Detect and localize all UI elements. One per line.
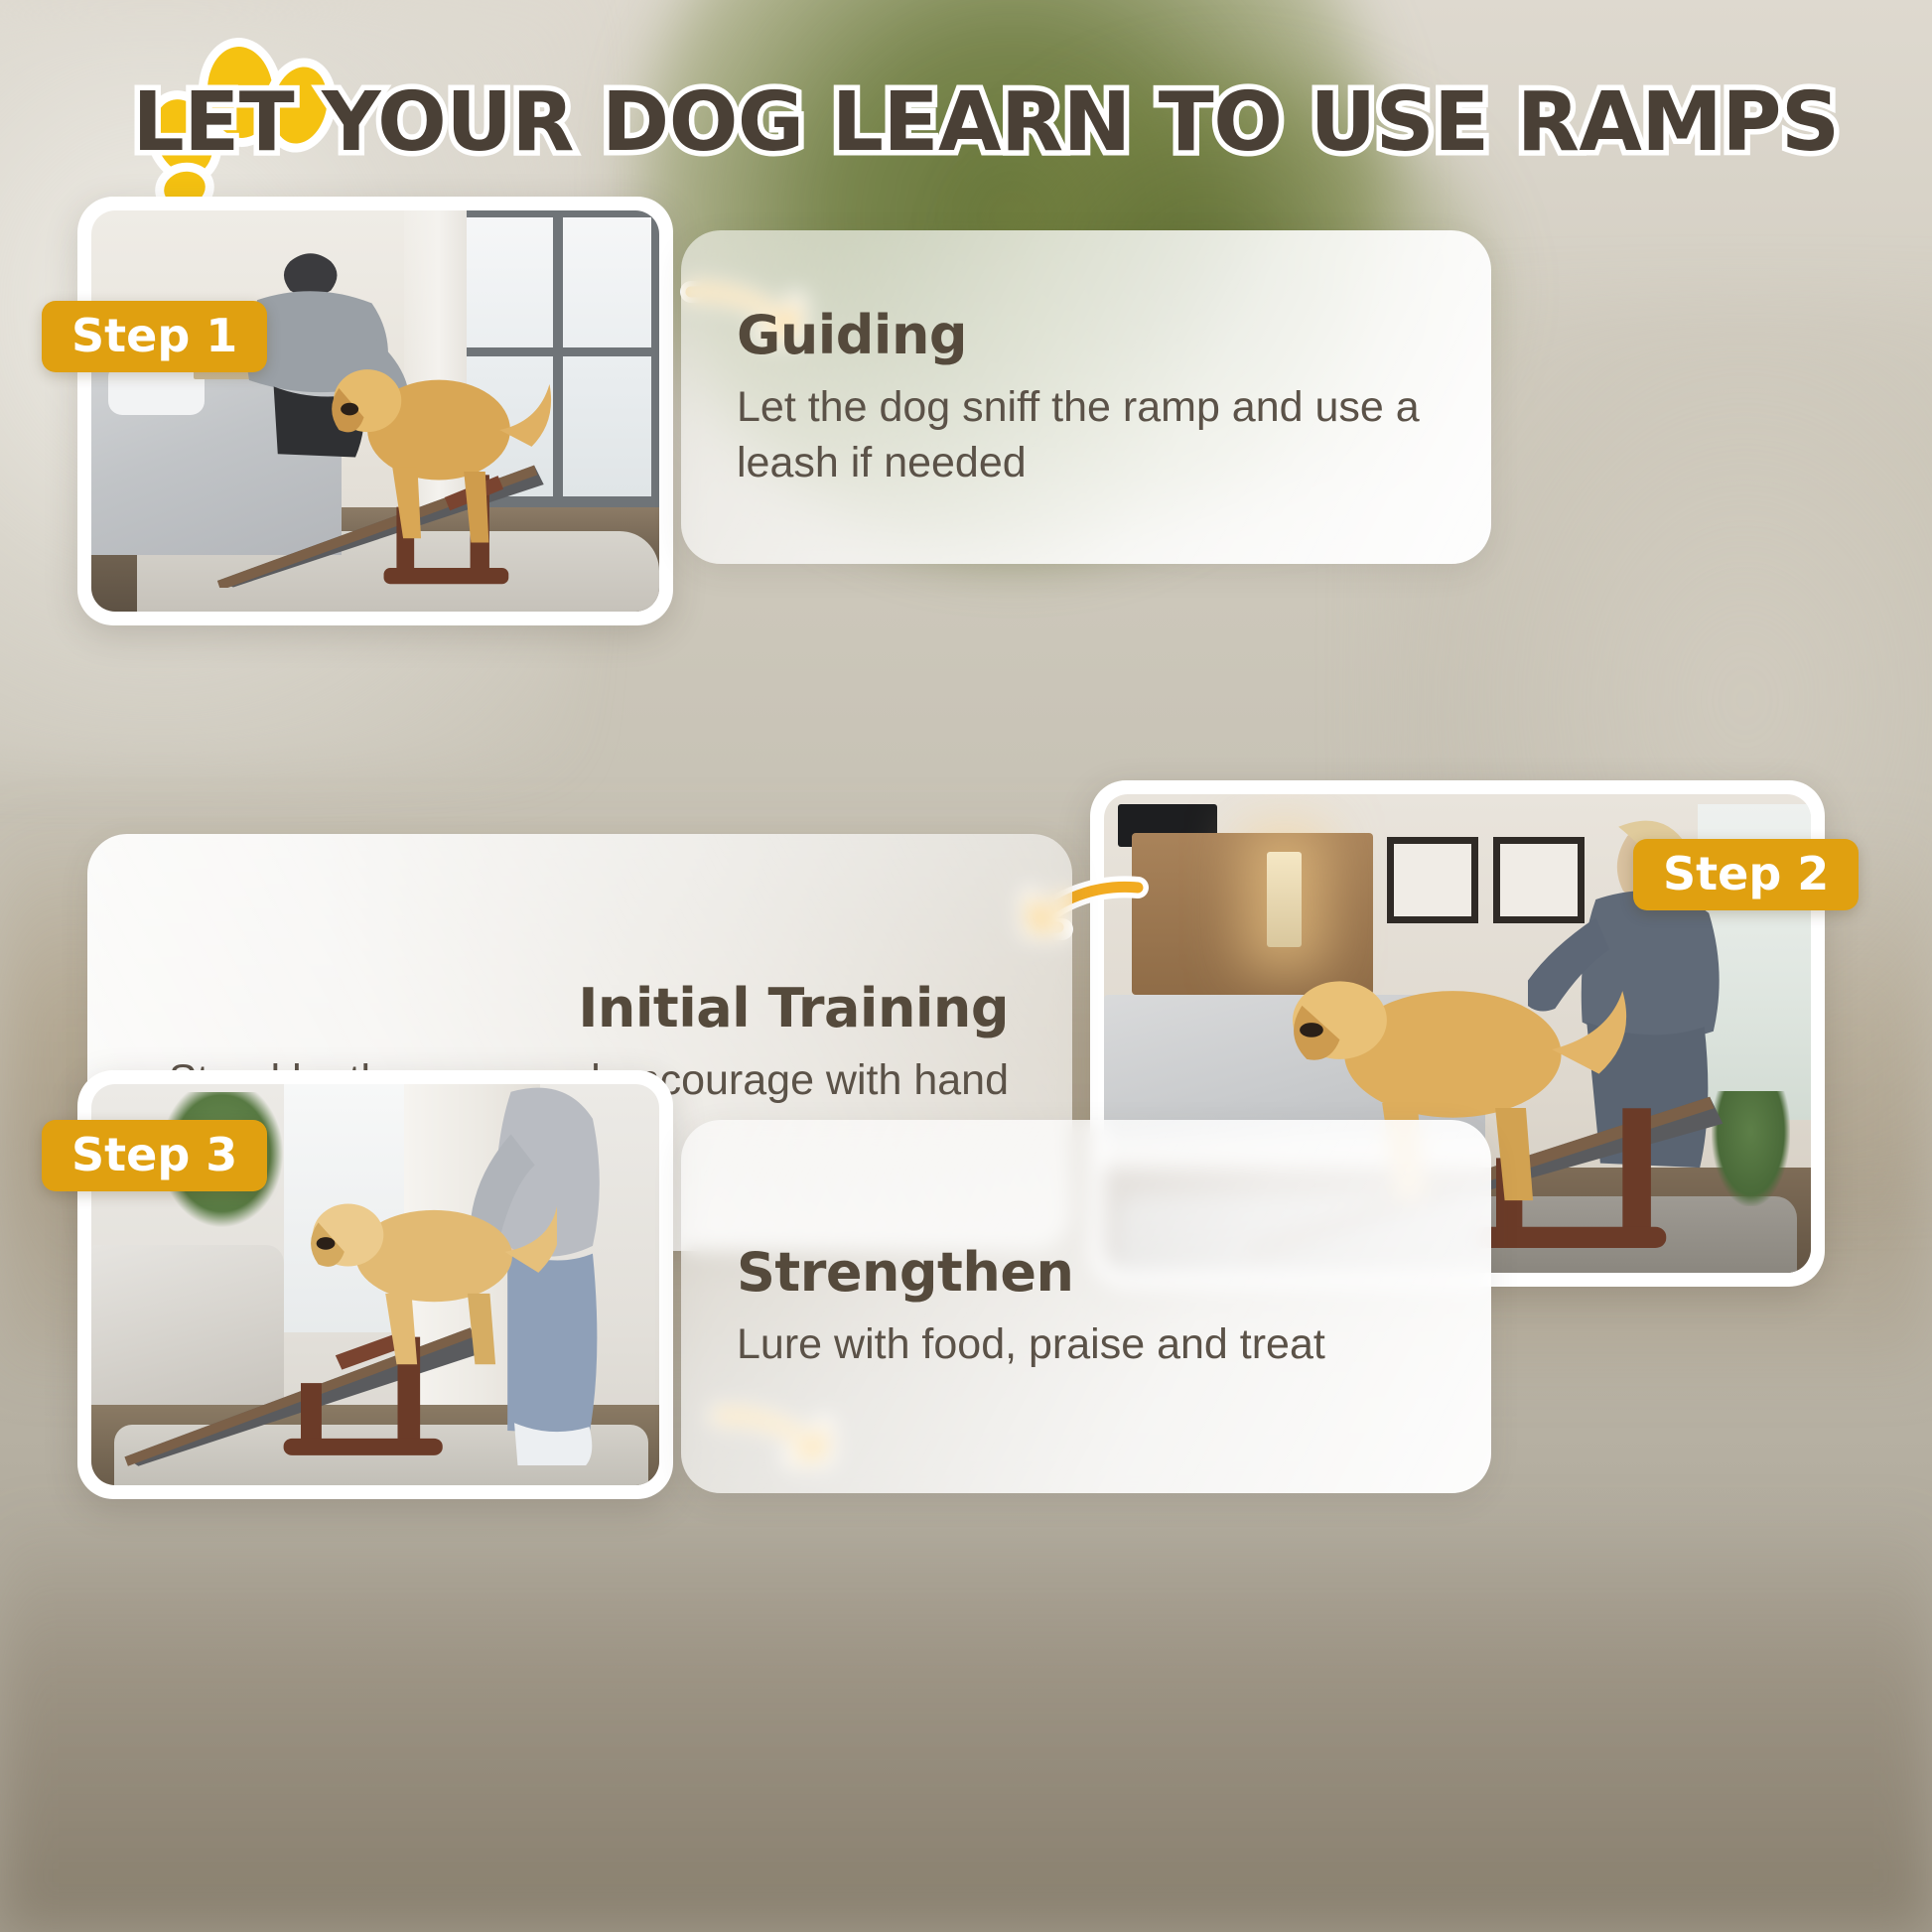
step-1-badge: Step 1 bbox=[42, 301, 267, 372]
step-1-heading: Guiding bbox=[737, 304, 1436, 366]
photo-scene-bedroom-window bbox=[91, 210, 659, 612]
step-3-heading: Strengthen bbox=[737, 1241, 1436, 1304]
page-title: LET YOUR DOG LEARN TO USE RAMPS bbox=[0, 75, 1932, 170]
step-1-photo bbox=[91, 210, 659, 612]
infographic-canvas: LET YOUR DOG LEARN TO USE RAMPS bbox=[0, 0, 1932, 1932]
step-3-badge: Step 3 bbox=[42, 1120, 267, 1191]
step-2-badge: Step 2 bbox=[1633, 839, 1859, 910]
background-bottom-shade bbox=[0, 1505, 1932, 1932]
step-3-description: Lure with food, praise and treat bbox=[737, 1317, 1436, 1373]
step-1-photo-card bbox=[77, 197, 673, 625]
header: LET YOUR DOG LEARN TO USE RAMPS bbox=[0, 0, 1932, 199]
step-1-description: Let the dog sniff the ramp and use a lea… bbox=[737, 380, 1436, 491]
step-2-heading: Initial Training bbox=[151, 977, 1009, 1039]
step-3-text-card: Strengthen Lure with food, praise and tr… bbox=[681, 1120, 1491, 1493]
step-1-text-card: Guiding Let the dog sniff the ramp and u… bbox=[681, 230, 1491, 564]
